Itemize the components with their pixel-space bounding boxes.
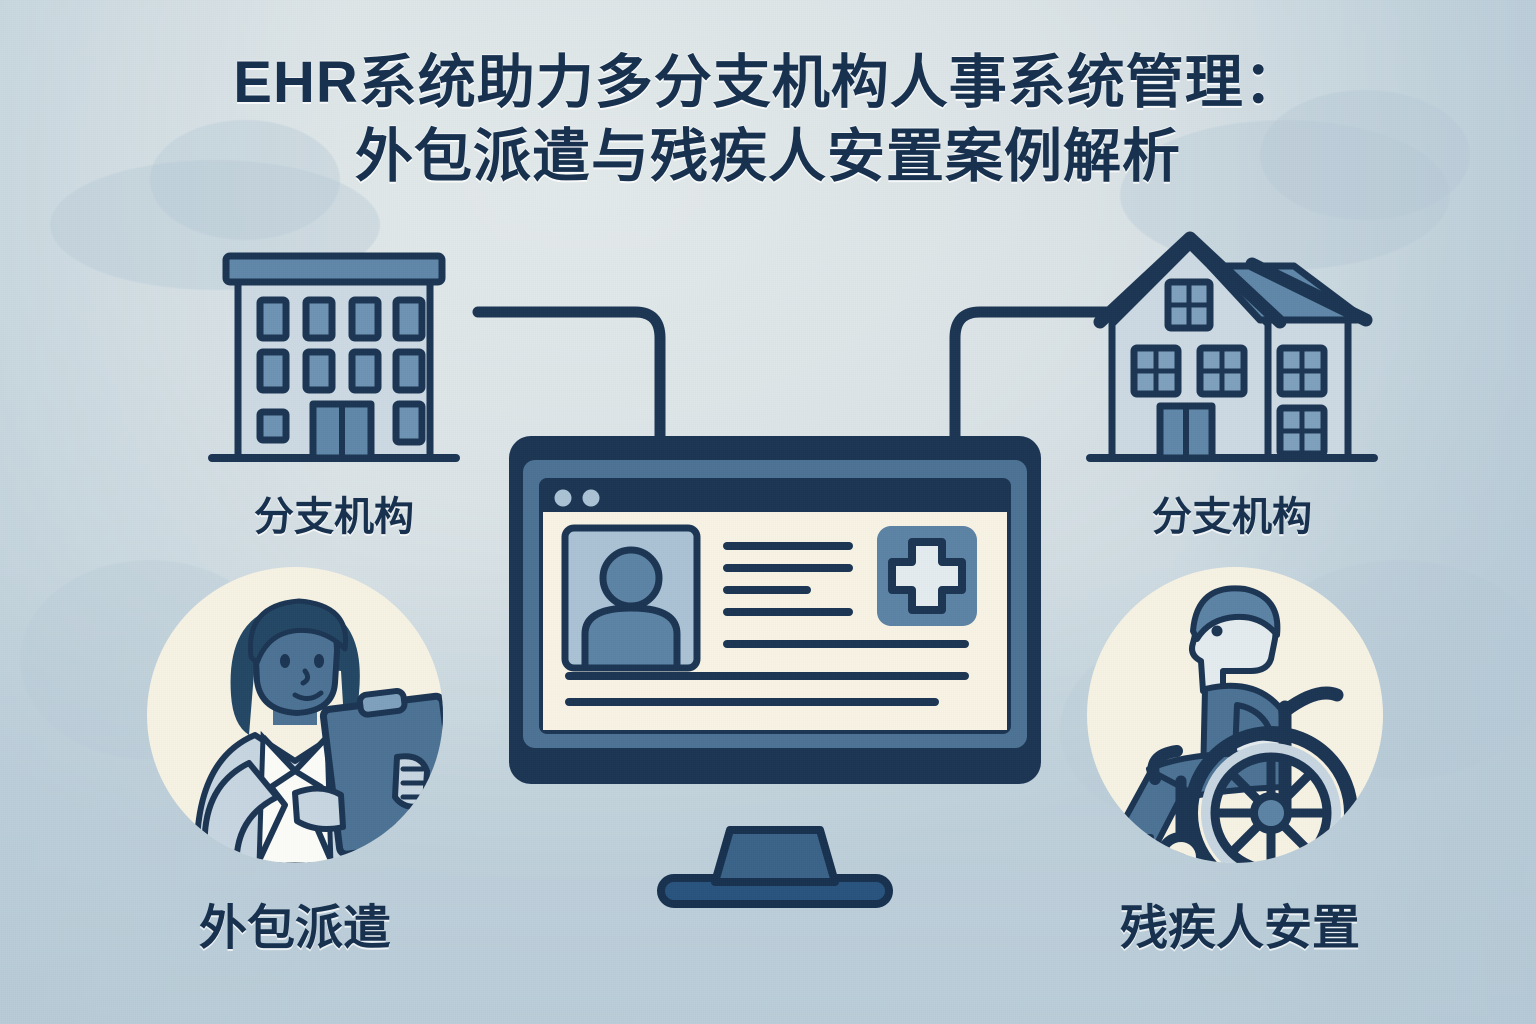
role-left-label: 外包派遣 <box>140 888 450 958</box>
title-line-1: EHR系统助力多分支机构人事系统管理： <box>0 46 1536 120</box>
role-right-label: 残疾人安置 <box>1060 888 1420 958</box>
branch-left-label: 分支机构 <box>196 484 472 542</box>
branch-right-label: 分支机构 <box>1082 484 1382 542</box>
role-left-icon <box>145 565 445 865</box>
branch-right-icon <box>1082 228 1382 476</box>
branch-left-icon <box>196 246 472 474</box>
illustration-canvas: EHR系统助力多分支机构人事系统管理： 外包派遣与残疾人安置案例解析 <box>0 0 1536 1024</box>
title-line-2: 外包派遣与残疾人安置案例解析 <box>0 120 1536 194</box>
role-right-icon <box>1085 565 1385 865</box>
monitor-icon <box>505 430 1045 920</box>
page-title: EHR系统助力多分支机构人事系统管理： 外包派遣与残疾人安置案例解析 <box>0 46 1536 194</box>
